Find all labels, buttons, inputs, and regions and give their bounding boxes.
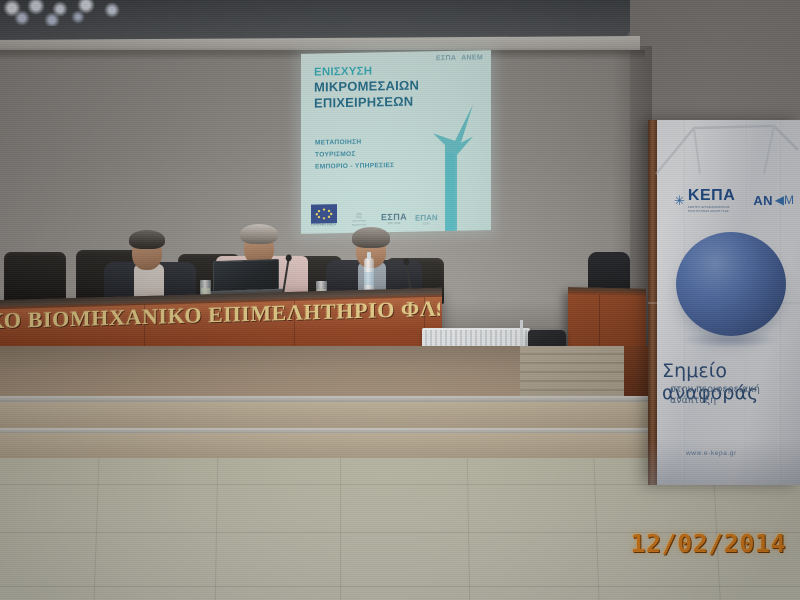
panelist-left-hair	[129, 230, 165, 249]
kepa-logo: ✳ ΚΕΠΑ ΚΕΝΤΡΟ ΕΠΙΧΕΙΡΗΜΑΤΙΚΗΣ ΠΟΛΙΤΙΣΤΙΚ…	[674, 187, 743, 213]
slide-subtitle-line-3: ΕΜΠΟΡΙΟ - ΥΠΗΡΕΣΙΕΣ	[315, 159, 445, 174]
epan-logo: ΕΠΑΝ ΕΣΠΑ	[415, 213, 438, 225]
anem-label: ΑΝ	[753, 193, 772, 208]
espa-logo: ΕΣΠΑ 2007-2013	[381, 212, 407, 226]
greek-ministry-logo: ⚖ ΥΠΟΥΡΓΕΙΟ ΑΝΑΠΤΥΞΗΣ	[345, 211, 373, 227]
eu-flag-logo: ΕΥΡΩΠΑΪΚΗ ΕΝΩΣΗ	[311, 204, 337, 227]
slide-title: ΕΝΙΣΧΥΣΗ ΜΙΚΡΟΜΕΣΑΙΩΝ ΕΠΙΧΕΙΡΗΣΕΩΝ	[314, 63, 464, 112]
banner-subhead: στην περιφερειακή ανάπτυξη	[670, 384, 794, 406]
anem-logo: ΑΝ ◀Μ	[753, 193, 794, 208]
slide-top-logos: ΕΣΠΑ ΑΝΕΜ	[436, 54, 483, 62]
panelist-center-hair	[240, 224, 278, 244]
slide-title-line-3: ΕΠΙΧΕΙΡΗΣΕΩΝ	[314, 93, 464, 112]
projected-slide: ΕΣΠΑ ΑΝΕΜ ΕΝΙΣΧΥΣΗ ΜΙΚΡΟΜΕΣΑΙΩΝ ΕΠΙΧΕΙΡΗ…	[301, 50, 491, 234]
camera-datestamp: 12/02/2014	[630, 529, 786, 558]
slide-top-logo-anem: ΑΝΕΜ	[461, 54, 483, 61]
kepa-subtitle: ΚΕΝΤΡΟ ΕΠΙΧΕΙΡΗΜΑΤΙΚΗΣ ΠΟΛΙΤΙΣΤΙΚΗΣ ΑΝΑΠ…	[688, 205, 743, 213]
kepa-star-icon: ✳	[674, 194, 685, 207]
epan-mark: ΕΠΑΝ	[415, 213, 438, 222]
blue-sphere-graphic	[676, 232, 786, 336]
stairs-side-panel	[624, 346, 650, 402]
kepa-label: ΚΕΠΑ	[688, 187, 735, 204]
slide-top-logo-espa: ΕΣΠΑ	[436, 55, 456, 62]
stairs	[520, 346, 632, 402]
chair-1	[4, 252, 66, 304]
conference-hall-photo: ΕΣΠΑ ΑΝΕΜ ΕΝΙΣΧΥΣΗ ΜΙΚΡΟΜΕΣΑΙΩΝ ΕΠΙΧΕΙΡΗ…	[0, 0, 800, 600]
slide-subtitle: ΜΕΤΑΠΟΙΗΣΗ ΤΟΥΡΙΣΜΟΣ ΕΜΠΟΡΙΟ - ΥΠΗΡΕΣΙΕΣ	[315, 135, 445, 174]
banner-bottom-shading	[648, 439, 800, 485]
panelist-right-hair	[352, 227, 390, 248]
slide-footer-logos: ΕΥΡΩΠΑΪΚΗ ΕΝΩΣΗ ⚖ ΥΠΟΥΡΓΕΙΟ ΑΝΑΠΤΥΞΗΣ ΕΣ…	[311, 180, 483, 227]
sphere-shadow	[678, 332, 782, 348]
ceiling-lights	[0, 0, 175, 26]
banner-logos: ✳ ΚΕΠΑ ΚΕΝΤΡΟ ΕΠΙΧΕΙΡΗΜΑΤΙΚΗΣ ΠΟΛΙΤΙΣΤΙΚ…	[674, 188, 794, 212]
rollup-banner: ✳ ΚΕΠΑ ΚΕΝΤΡΟ ΕΠΙΧΕΙΡΗΜΑΤΙΚΗΣ ΠΟΛΙΤΙΣΤΙΚ…	[648, 120, 800, 485]
anem-arrow-icon: ◀Μ	[775, 193, 794, 207]
